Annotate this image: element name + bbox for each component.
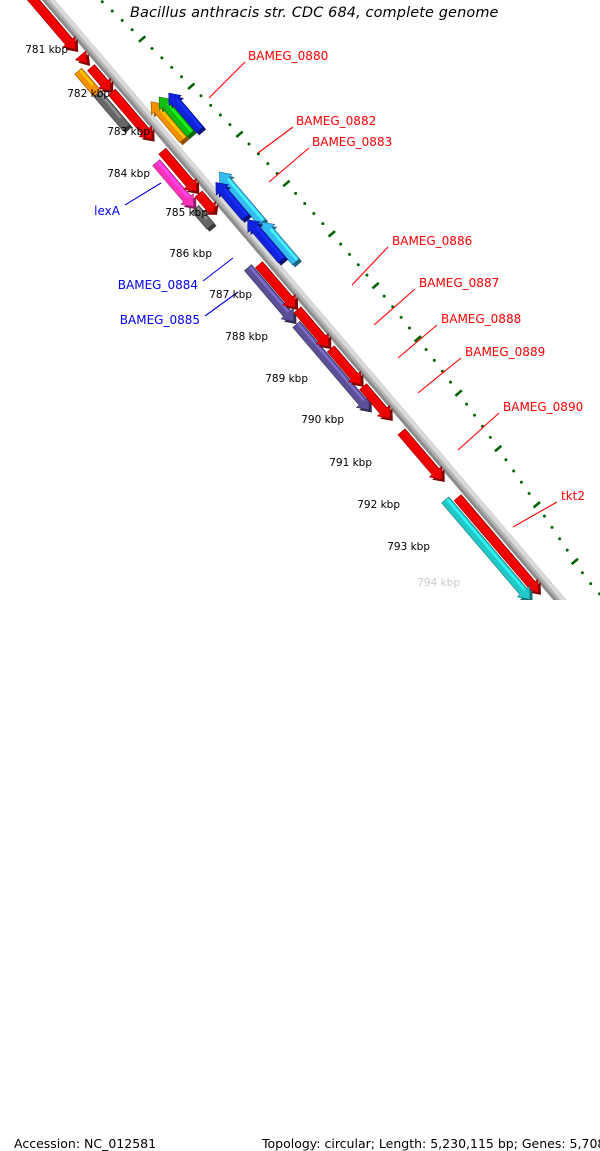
leader-line — [125, 183, 161, 205]
leader-line — [209, 62, 245, 98]
gene-label-bameg_0887[interactable]: BAMEG_0887 — [419, 276, 499, 290]
leader-line — [398, 325, 437, 358]
ruler-tick-label: 785 kbp — [165, 207, 208, 219]
ruler-tick-label: 786 kbp — [169, 248, 212, 260]
gene-label-bameg_0883[interactable]: BAMEG_0883 — [312, 135, 392, 149]
ruler-tick-label: 790 kbp — [301, 414, 344, 426]
gene-label-bameg_0880[interactable]: BAMEG_0880 — [248, 49, 328, 63]
ruler-tick-label: 783 kbp — [107, 126, 150, 138]
ruler-tick-label: 788 kbp — [225, 331, 268, 343]
ruler-tick-label: 784 kbp — [107, 168, 150, 180]
gene-label-bameg_0886[interactable]: BAMEG_0886 — [392, 234, 472, 248]
status-bar: Accession: NC_012581 Topology: circular;… — [0, 566, 600, 600]
ruler-tick-label: 787 kbp — [209, 289, 252, 301]
leader-line — [458, 413, 499, 450]
gene-label-bameg_0889[interactable]: BAMEG_0889 — [465, 345, 545, 359]
leader-line — [258, 127, 293, 153]
leader-line — [418, 358, 461, 393]
ruler-tick-label: 793 kbp — [387, 541, 430, 553]
gene-label-lexa[interactable]: lexA — [94, 204, 120, 218]
gene-label-bameg_0884[interactable]: BAMEG_0884 — [118, 278, 198, 292]
gene-label-bameg_0890[interactable]: BAMEG_0890 — [503, 400, 583, 414]
leader-line — [374, 289, 415, 325]
gene-label-tkt2[interactable]: tkt2 — [561, 489, 585, 503]
genome-viewer[interactable]: Bacillus anthracis str. CDC 684, complet… — [0, 0, 600, 600]
gene-label-bameg_0882[interactable]: BAMEG_0882 — [296, 114, 376, 128]
ruler-tick-label: 791 kbp — [329, 457, 372, 469]
ruler-tick-label: 782 kbp — [67, 88, 110, 100]
accession-text: Accession: NC_012581 — [14, 1136, 156, 1151]
leader-line — [269, 148, 309, 182]
leader-line — [203, 258, 233, 281]
genome-info-text: Topology: circular; Length: 5,230,115 bp… — [262, 1136, 600, 1151]
ruler-tick-label: 792 kbp — [357, 499, 400, 511]
gene-label-bameg_0888[interactable]: BAMEG_0888 — [441, 312, 521, 326]
leader-line — [352, 247, 388, 285]
ruler-tick-label: 781 kbp — [25, 44, 68, 56]
gene-label-bameg_0885[interactable]: BAMEG_0885 — [120, 313, 200, 327]
page-title: Bacillus anthracis str. CDC 684, complet… — [130, 5, 499, 21]
ruler-tick-label: 789 kbp — [265, 373, 308, 385]
